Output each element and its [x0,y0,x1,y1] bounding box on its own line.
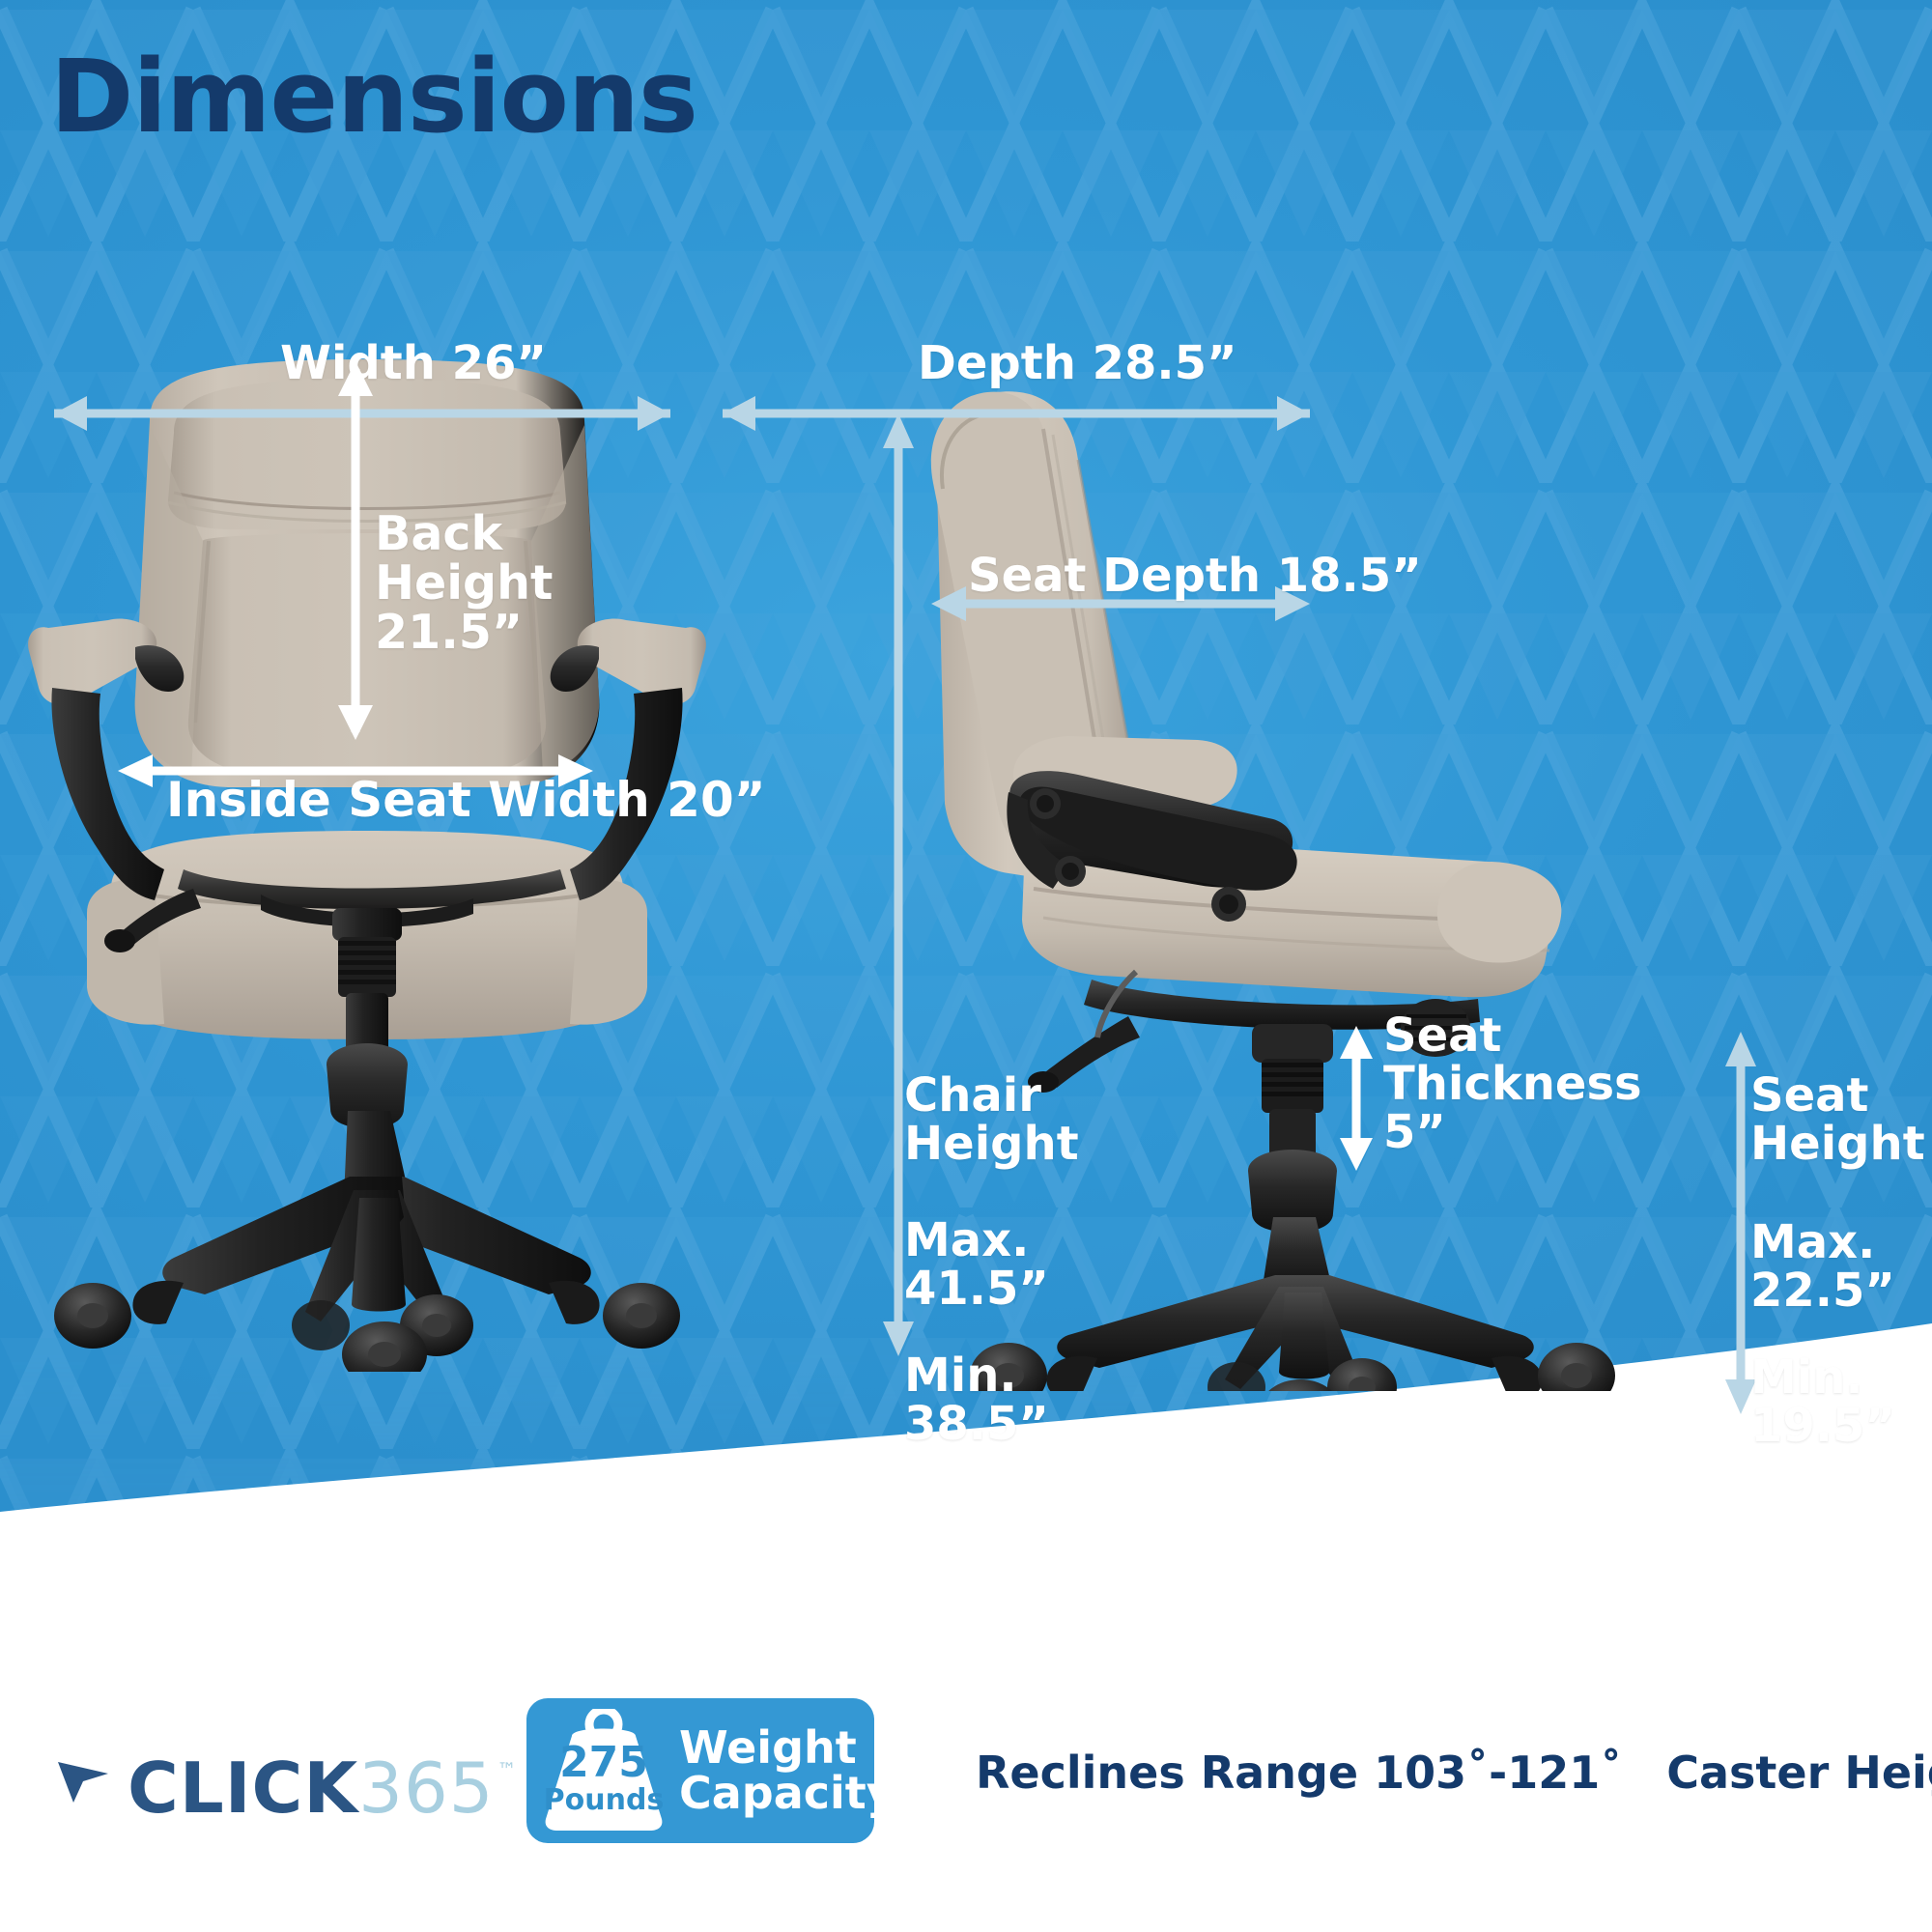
logo-text-365: 365 [358,1759,494,1818]
depth-label: Depth 28.5” [918,340,1237,388]
chair-height-min-value: Min. 38.5” [904,1352,1049,1449]
seat-height-label: Seat Height [1750,1072,1925,1169]
inside-seat-width-label: Inside Seat Width 20” [166,775,766,825]
brand-logo: CLICK 365 ™ [54,1752,517,1818]
back-height-label: Back Height 21.5” [375,510,553,658]
back-height-dimension-arrow [333,348,378,753]
weight-icon: 275 Pounds [540,1709,668,1833]
seat-thickness-dimension-arrow [1335,1016,1378,1180]
chair-height-max-value: Max. 41.5” [904,1217,1049,1314]
depth-dimension-arrow [697,394,1335,433]
weight-number: 275 [540,1742,668,1784]
seat-height-min-value: Min. 19.5” [1750,1354,1895,1451]
cursor-arrow-icon [54,1752,114,1812]
footnote-recline-range: Reclines Range 103˚-121˚ [976,1747,1622,1799]
infographic-canvas: Dimensions [0,0,1932,1932]
page-title: Dimensions [50,46,697,147]
weight-unit: Pounds [540,1786,668,1815]
seat-thickness-label: Seat Thickness 5” [1383,1012,1642,1157]
footer: CLICK 365 ™ 275 Pounds Weight Capacity R… [0,1642,1932,1932]
chair-height-label: Chair Height [904,1072,1079,1169]
logo-trademark: ™ [497,1760,517,1779]
seat-depth-label: Seat Depth 18.5” [968,553,1422,601]
footnote-row: Reclines Range 103˚-121˚ Caster Height 2… [976,1747,1932,1799]
width-label: Width 26” [280,340,547,388]
weight-capacity-badge: 275 Pounds Weight Capacity [526,1698,874,1843]
weight-capacity-caption: Weight Capacity [679,1725,895,1817]
footnote-caster-height: Caster Height 2” [1666,1747,1932,1799]
seat-height-max-value: Max. 22.5” [1750,1219,1895,1316]
logo-text-click: CLICK [128,1759,358,1818]
